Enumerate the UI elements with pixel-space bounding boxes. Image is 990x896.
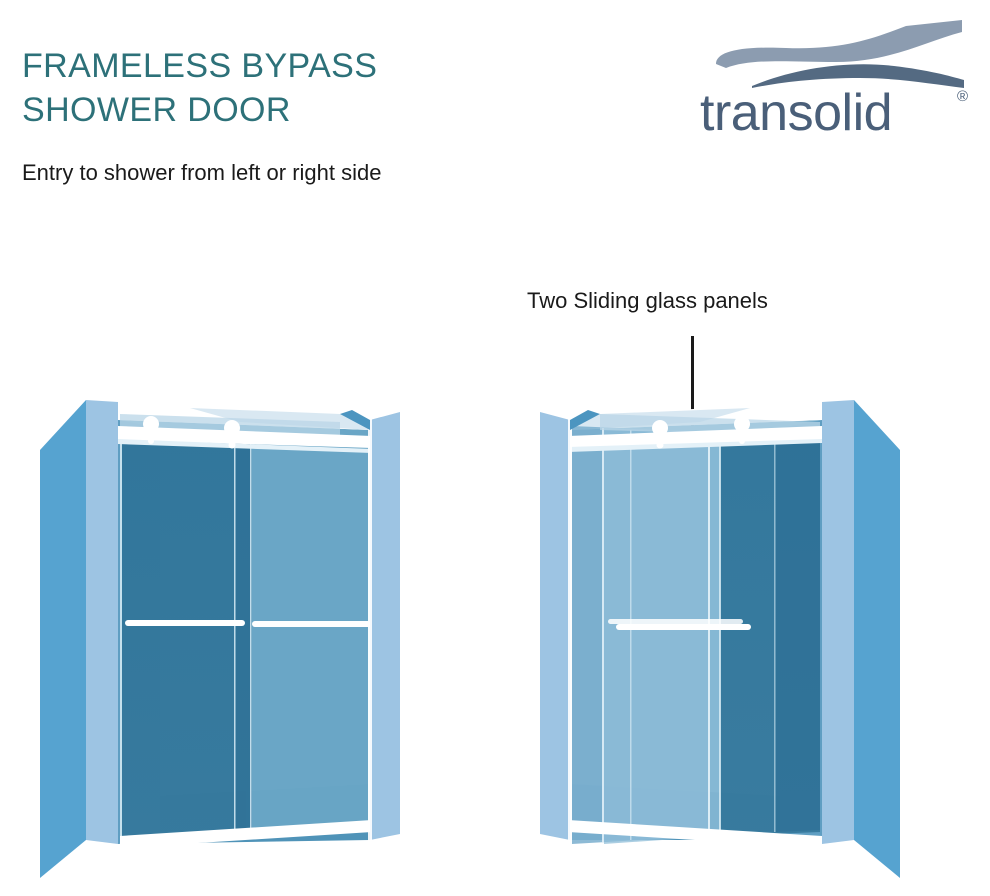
handle-bar-right [252, 621, 377, 627]
glass-panel-rear [246, 434, 370, 834]
bottom-guide-icon [690, 830, 710, 839]
logo-wordmark: transolid [700, 84, 970, 142]
glass-edge-e [774, 436, 776, 832]
roller-pin-2 [739, 438, 745, 444]
roller-icon-1 [143, 416, 159, 432]
glass-edge-a [602, 428, 604, 843]
wave-logo-icon [694, 18, 970, 88]
roller-pin-1 [657, 442, 664, 449]
glass-edge-mid-a [234, 433, 236, 836]
roller-pin-1 [148, 438, 154, 444]
title-line-2: SHOWER DOOR [22, 88, 642, 132]
page-subtitle: Entry to shower from left or right side [22, 158, 381, 188]
glass-edge-d [719, 434, 721, 836]
glass-edge-c [708, 432, 710, 836]
glass-bay-shade [776, 436, 820, 832]
right-wall-outer-face [854, 400, 900, 878]
left-wall-jamb [540, 412, 570, 840]
registered-trademark-icon: ® [957, 88, 968, 105]
roller-icon-2 [224, 420, 240, 436]
right-wall-jamb [822, 400, 854, 844]
handle-bar-rear [608, 619, 743, 624]
handle-bar-left [125, 620, 245, 626]
bottom-guide-icon [226, 829, 246, 839]
glass-panel-front [604, 428, 720, 844]
roller-icon-2 [734, 416, 750, 432]
left-wall-jamb [86, 400, 118, 844]
glass-overlap-strip [236, 433, 252, 836]
glass-edge-b [630, 430, 632, 840]
roller-icon-1 [652, 420, 668, 436]
right-wall-jamb [370, 412, 400, 840]
callout-label-sliding-panels: Two Sliding glass panels [527, 287, 768, 315]
right-jamb-edge [368, 416, 372, 844]
glass-edge-left [120, 428, 122, 843]
roller-pin-2 [229, 442, 236, 449]
shower-illustration-right-entry [520, 392, 900, 878]
title-line-1: FRAMELESS BYPASS [22, 44, 642, 88]
left-jamb-edge [568, 416, 572, 844]
glass-panel-front [122, 428, 250, 844]
brand-logo: transolid ® [694, 18, 970, 142]
illustration-page: FRAMELESS BYPASS SHOWER DOOR Entry to sh… [0, 0, 990, 896]
handle-bar-front [616, 624, 751, 630]
shower-illustration-left-entry [40, 392, 420, 878]
glass-edge-mid-b [250, 434, 252, 836]
left-wall-outer-face [40, 400, 86, 878]
page-title: FRAMELESS BYPASS SHOWER DOOR [22, 44, 642, 132]
